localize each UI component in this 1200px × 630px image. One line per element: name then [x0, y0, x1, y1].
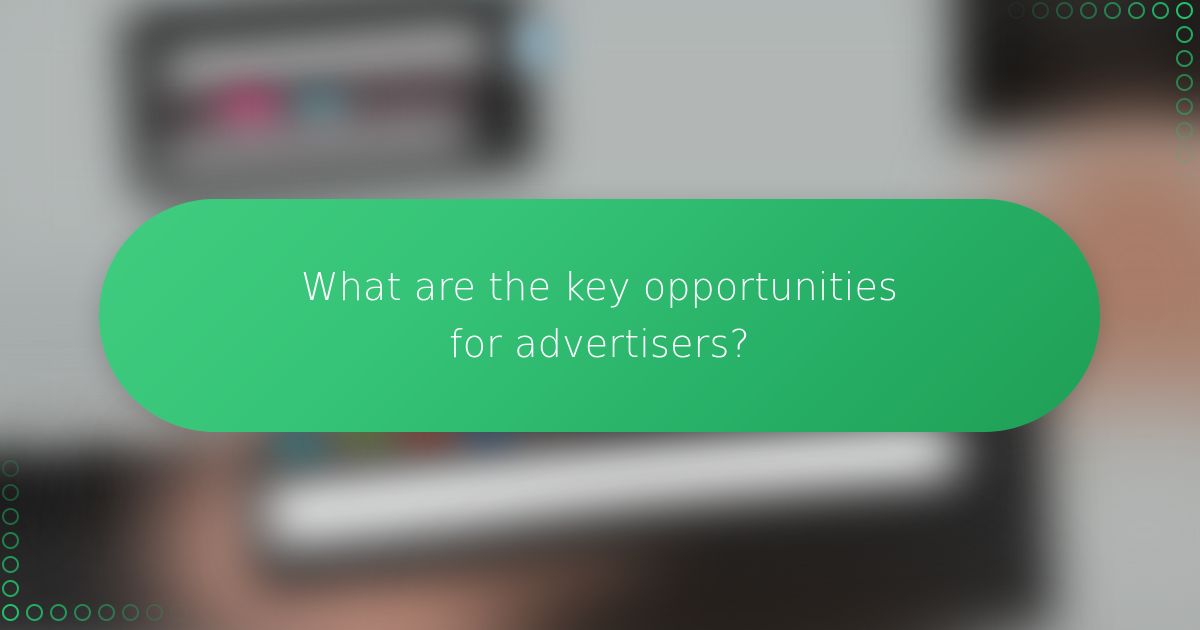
- decorative-circle: [2, 532, 19, 549]
- decorative-circle: [26, 604, 43, 621]
- decorative-circle: [98, 604, 115, 621]
- decorative-circle: [1032, 2, 1049, 19]
- bg-screen-accent-pink: [215, 90, 285, 128]
- decorative-circle: [1176, 74, 1193, 91]
- decorative-circle: [170, 604, 187, 621]
- social-card-image: What are the key opportunities for adver…: [0, 0, 1200, 630]
- decorative-circle: [2, 460, 19, 477]
- decorative-circle: [1176, 2, 1193, 19]
- decorative-circle: [1176, 98, 1193, 115]
- decorative-circle: [50, 604, 67, 621]
- decorative-circle: [1176, 26, 1193, 43]
- decorative-circle: [1056, 2, 1073, 19]
- bg-screen-accent-teal: [290, 88, 350, 122]
- decorative-circle: [1128, 2, 1145, 19]
- decorative-dot-grid-bottom-left: [2, 436, 194, 628]
- decorative-circle: [2, 484, 19, 501]
- decorative-circle: [122, 604, 139, 621]
- decorative-circle: [1176, 50, 1193, 67]
- decorative-circle: [2, 508, 19, 525]
- decorative-circle: [2, 436, 19, 453]
- question-card: What are the key opportunities for adver…: [99, 199, 1100, 432]
- decorative-circle: [1104, 2, 1121, 19]
- decorative-circle: [1152, 2, 1169, 19]
- decorative-circle: [1008, 2, 1025, 19]
- decorative-circle: [1080, 2, 1097, 19]
- decorative-circle: [1176, 170, 1193, 187]
- decorative-circle: [1176, 146, 1193, 163]
- decorative-circle: [74, 604, 91, 621]
- question-text: What are the key opportunities for adver…: [290, 259, 910, 373]
- decorative-circle: [146, 604, 163, 621]
- decorative-circle: [2, 556, 19, 573]
- decorative-circle: [2, 604, 19, 621]
- decorative-dot-grid-top-right: [1008, 2, 1200, 194]
- decorative-circle: [2, 580, 19, 597]
- bg-note-blue-3: [515, 18, 561, 70]
- decorative-circle: [1176, 122, 1193, 139]
